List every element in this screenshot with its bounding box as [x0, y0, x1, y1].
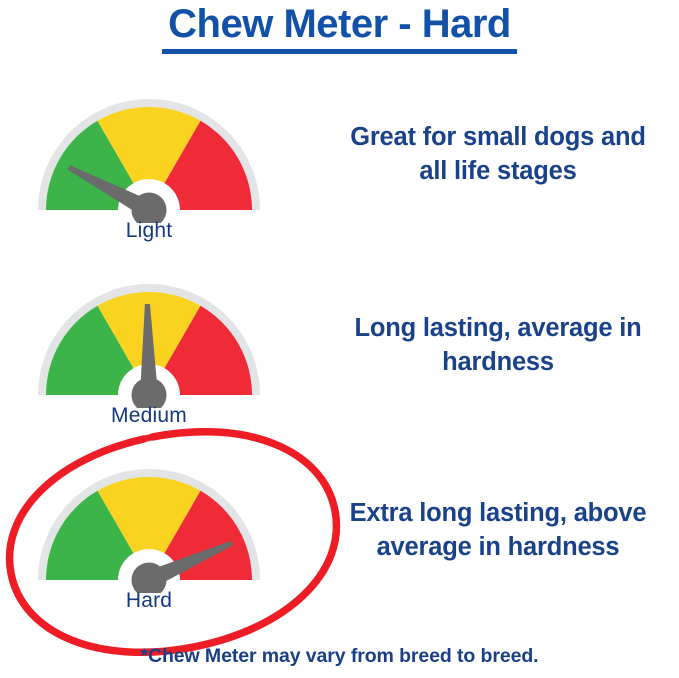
description-hard: Extra long lasting, above average in har… — [318, 496, 678, 564]
gauge-hard-svg — [33, 458, 265, 593]
gauge-light-svg — [33, 88, 265, 223]
title-block: Chew Meter - Hard — [0, 2, 679, 54]
footnote: *Chew Meter may vary from breed to breed… — [0, 645, 679, 668]
description-light: Great for small dogs and all life stages — [318, 120, 678, 188]
description-medium-line1: Long lasting, average in — [318, 311, 678, 345]
description-light-line1: Great for small dogs and — [318, 120, 678, 154]
gauge-hard: Hard — [33, 458, 265, 633]
description-hard-line2: average in hardness — [318, 530, 678, 564]
meter-row-hard: Hard Extra long lasting, above average i… — [0, 458, 679, 638]
description-medium: Long lasting, average in hardness — [318, 311, 678, 379]
meter-row-medium: Medium Long lasting, average in hardness — [0, 273, 679, 453]
description-hard-line1: Extra long lasting, above — [318, 496, 678, 530]
gauge-label-medium: Medium — [33, 404, 265, 428]
gauge-label-hard: Hard — [33, 589, 265, 613]
gauge-medium-svg — [33, 273, 265, 408]
gauge-medium: Medium — [33, 273, 265, 448]
description-medium-line2: hardness — [318, 345, 678, 379]
description-light-line2: all life stages — [318, 154, 678, 188]
page-title: Chew Meter - Hard — [162, 2, 517, 54]
gauge-light: Light — [33, 88, 265, 263]
meter-row-light: Light Great for small dogs and all life … — [0, 88, 679, 268]
gauge-label-light: Light — [33, 219, 265, 243]
